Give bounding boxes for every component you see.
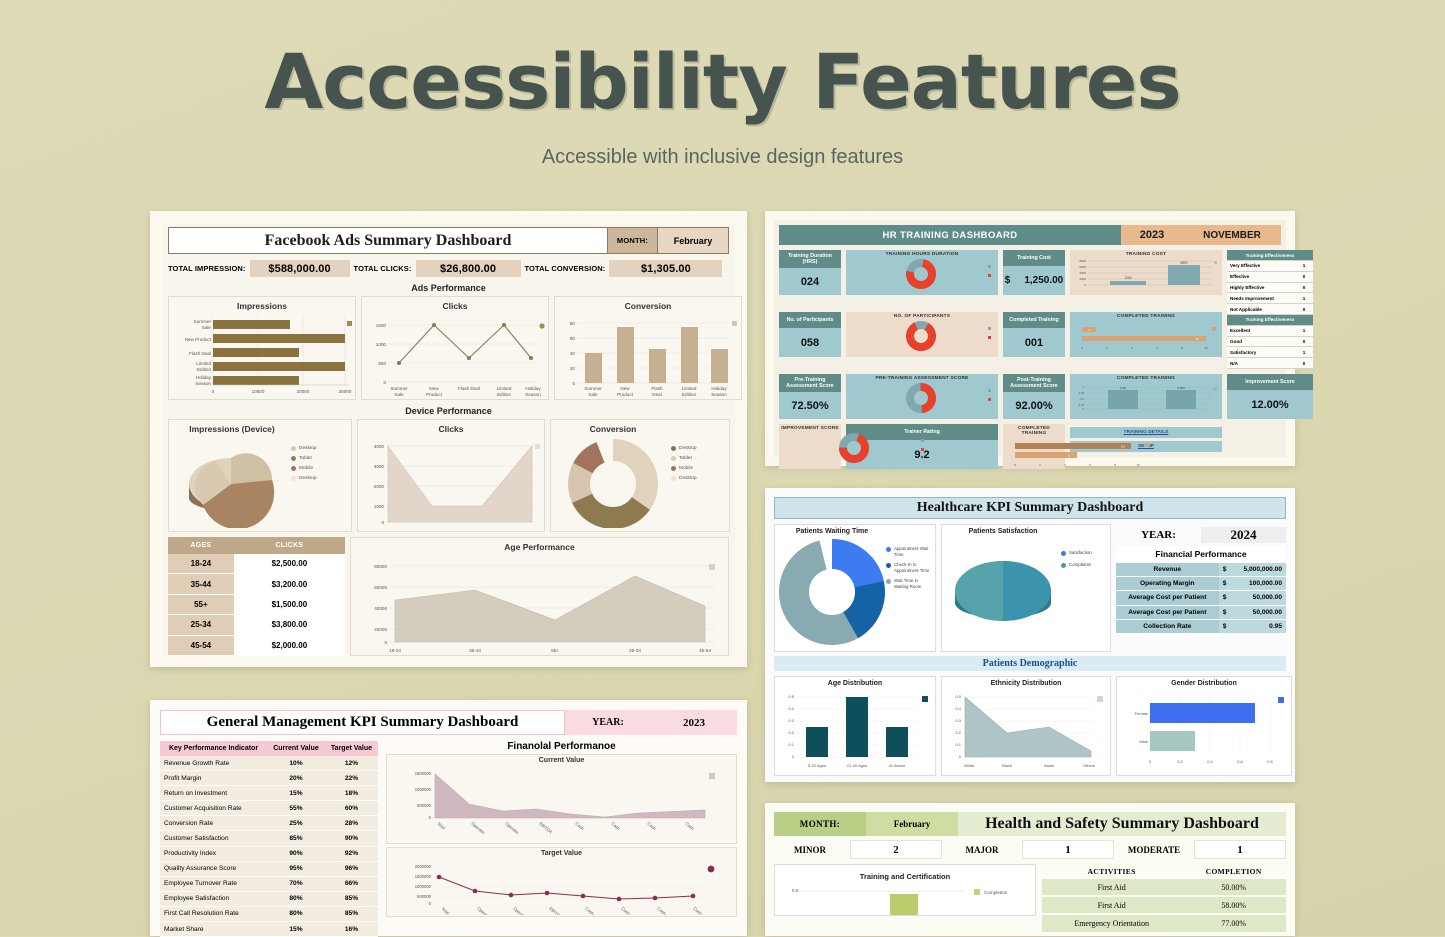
svg-text:EBITDA: EBITDA: [548, 906, 563, 915]
svg-text:0.8: 0.8: [1267, 759, 1273, 764]
gender-distribution-svg: FemaleMale 00.20.4 0.60.8: [1120, 687, 1288, 773]
major-value: 1: [1022, 840, 1114, 859]
chart-patients-satisfaction: Patients Satisfaction Satisfaction Compl…: [941, 524, 1111, 652]
svg-text:1000000: 1000000: [415, 787, 432, 792]
cell-label: Satisfactory: [1227, 347, 1295, 358]
svg-text:Total: Total: [436, 821, 446, 831]
completed-training-bar3-svg: 9.2 5 024 6810: [1005, 436, 1155, 470]
chart-title: COMPLETED TRAINING: [1005, 426, 1063, 436]
chart-pre-training-assessment-score: PRE-TRAINING ASSESSMENT SCORE: [846, 374, 998, 419]
kpi-participants: No. of Participants 058: [779, 312, 841, 357]
svg-text:500000: 500000: [417, 803, 432, 808]
svg-text:4: 4: [1131, 346, 1133, 350]
table-row: First Aid50.00%: [1042, 879, 1286, 896]
kpi-table: Key Performance Indicator Current Value …: [160, 741, 378, 937]
svg-text:60: 60: [570, 336, 576, 341]
col-current: Current Value: [267, 741, 325, 756]
kpi-value: 12.00%: [1227, 390, 1313, 419]
col-kpi: Key Performance Indicator: [160, 741, 267, 756]
kpi-training-duration: Training Duration (HRS) 024: [779, 250, 841, 295]
facebook-title: Facebook Ads Summary Dashboard: [168, 227, 608, 254]
hr-kpi-grid: Training Duration (HRS) 024 TRAINING HOU…: [779, 250, 1281, 469]
svg-text:Sale: Sale: [394, 392, 404, 397]
svg-text:2000: 2000: [1079, 277, 1086, 281]
current-value-area-svg: 15000001000000 5000000 Total Operatin Op…: [389, 766, 721, 842]
chart-conversion-bar: Conversion 8060 40200: [554, 296, 742, 400]
minor-value: 2: [850, 840, 942, 859]
gm-body: Key Performance Indicator Current Value …: [160, 741, 737, 937]
chart-device-conversion-donut: Conversion Desktop Tablet: [550, 419, 730, 532]
gm-header: General Management KPI Summary Dashboard…: [160, 710, 737, 735]
cell-current: 20%: [267, 771, 325, 786]
svg-text:4: 4: [1064, 463, 1066, 467]
legend-label: Tablet: [679, 456, 692, 461]
chart-impressions-bar: Impressions SummerSale New Product Flash: [168, 296, 356, 400]
facebook-month-label: MONTH:: [608, 227, 658, 254]
year-label: YEAR:: [1116, 529, 1201, 541]
total-clicks-value: $26,800.00: [416, 260, 521, 277]
chart-training-cost: TRAINING COST 1250 8500 80006000 4000200…: [1070, 250, 1222, 295]
total-conversion-label: TOTAL CONVERSION:: [525, 264, 606, 273]
chart-title: IMPROVEMENT SCORE: [781, 426, 839, 431]
table-row: Customer Satisfaction85%90%: [160, 831, 378, 846]
svg-text:0.75: 0.75: [1079, 391, 1085, 395]
donut-svg: [848, 257, 998, 291]
svg-text:Season: Season: [525, 392, 541, 397]
legend-label: Mobile: [679, 466, 693, 471]
svg-text:0: 0: [212, 389, 215, 394]
cell-target: 90%: [325, 831, 378, 846]
cell-label: Good: [1227, 336, 1295, 347]
svg-text:Product: Product: [426, 392, 443, 397]
kpi-label: Improvement Score: [1227, 374, 1313, 390]
table-row: Revenue Growth Rate10%12%: [160, 756, 378, 771]
cell-count: 1: [1295, 347, 1313, 358]
chart-title: Ethnicity Distribution: [945, 680, 1107, 687]
svg-text:0.92: 0.92: [1120, 386, 1126, 390]
table-header: Training Effectiveness: [1227, 314, 1313, 325]
legend-swatch-icon: [671, 466, 676, 471]
cell-currency: $: [1219, 563, 1231, 577]
legend-label: Completion: [984, 890, 1008, 895]
svg-text:0.4: 0.4: [788, 706, 794, 711]
legend-swatch-icon: [291, 476, 296, 481]
chart-title: Training and Certification: [778, 872, 1032, 881]
svg-text:5-20 Ages: 5-20 Ages: [808, 763, 826, 768]
year-value[interactable]: 2024: [1201, 527, 1286, 543]
legend-swatch-icon: [291, 446, 296, 451]
cell-age: 45-54: [168, 635, 234, 655]
legend-swatch-icon: [886, 563, 891, 568]
hr-month[interactable]: NOVEMBER: [1183, 225, 1281, 245]
svg-text:0: 0: [1081, 346, 1083, 350]
kpi-completed-training: Completed Training 001: [1003, 312, 1065, 357]
hs-month-label: MONTH:: [774, 812, 866, 836]
svg-text:Edition: Edition: [682, 392, 696, 397]
cell-target: 85%: [325, 906, 378, 921]
svg-text:3000: 3000: [374, 464, 385, 469]
cell-completion: 77.00%: [1181, 914, 1286, 932]
cell-current: 85%: [267, 831, 325, 846]
legend-swatch-icon: [886, 547, 891, 552]
legend-label: Desktop: [679, 476, 697, 481]
cell-current: 80%: [267, 891, 325, 906]
legend-swatch-icon: [671, 446, 676, 451]
svg-text:0: 0: [429, 901, 432, 906]
cell-value: 5,000,000.00: [1231, 563, 1286, 577]
svg-text:0: 0: [1149, 759, 1152, 764]
table-row: 55+$1,500.00: [168, 594, 345, 614]
legend-swatch-icon: [291, 456, 296, 461]
cell-count: 1: [1295, 293, 1313, 304]
device-impressions-pie-svg: [173, 436, 291, 528]
cell-completion: 58.00%: [1181, 896, 1286, 914]
table-row: Average Cost per Patient$50,000.00: [1116, 605, 1286, 619]
age-distribution-svg: 0.50.40.3 0.20.10 5-20 Ages21-40 Ages41 …: [778, 687, 933, 773]
clicks-line-svg: 15001000 5000 SummerSale NewProduct Flas…: [366, 313, 546, 399]
svg-text:45-54: 45-54: [699, 648, 711, 653]
total-impression-label: TOTAL IMPRESSION:: [168, 264, 246, 273]
ethnicity-distribution-svg: 0.50.40.3 0.20.10 WhiteBlack AsianOthers: [945, 687, 1108, 773]
cell-kpi: Customer Acquisition Rate: [160, 801, 267, 816]
svg-text:20000: 20000: [297, 389, 310, 394]
col-target: Target Value: [325, 741, 378, 756]
cell-label: Operating Margin: [1116, 577, 1219, 591]
cell-count: 0: [1295, 271, 1313, 282]
cell-value: 50,000.00: [1231, 591, 1286, 605]
target-value-line-svg: 20000001500000 10000005000000 Total Oper…: [389, 859, 721, 915]
healthcare-demographic-row: Age Distribution 0.50.40.3 0.20.10: [774, 676, 1286, 776]
cell-age: 18-24: [168, 554, 234, 574]
svg-text:0: 0: [1083, 407, 1085, 411]
waiting-legend: Appointment Wait Time Check-In to Appoin…: [886, 528, 932, 648]
legend-label: Desktop: [679, 446, 697, 451]
svg-text:New: New: [429, 386, 439, 391]
svg-text:10: 10: [1204, 346, 1208, 350]
svg-text:Season: Season: [711, 392, 727, 397]
hr-training-dashboard-card: HR TRAINING DASHBOARD 2023 NOVEMBER Trai…: [765, 211, 1295, 466]
kpi-value: 024: [779, 268, 841, 295]
cell-target: 66%: [325, 876, 378, 891]
table-row: Revenue$5,000,000.00: [1116, 563, 1286, 577]
svg-text:Operatin: Operatin: [504, 821, 520, 836]
cell-count: 0: [1295, 304, 1313, 315]
kpi-value: 1,250.00: [1024, 275, 1063, 286]
svg-text:1250: 1250: [1124, 276, 1131, 280]
conversion-bar-svg: 8060 40200 SummerSale NewProduct FlashDe…: [559, 313, 739, 399]
svg-text:55+: 55+: [551, 648, 559, 653]
device-performance-charts: Impressions (Device) Desktop Ta: [168, 419, 729, 532]
kpi-label: Training Cost: [1003, 250, 1065, 266]
svg-text:8000: 8000: [1079, 259, 1086, 263]
svg-text:1500000: 1500000: [415, 771, 432, 776]
cell-current: 80%: [267, 906, 325, 921]
kpi-currency: $: [1005, 275, 1011, 286]
facebook-ads-dashboard-card: Facebook Ads Summary Dashboard MONTH: Fe…: [150, 211, 747, 667]
cell-current: 95%: [267, 861, 325, 876]
svg-text:Cash: Cash: [574, 821, 585, 832]
svg-text:Summer: Summer: [584, 386, 602, 391]
cell-kpi: Revenue Growth Rate: [160, 756, 267, 771]
svg-text:40000: 40000: [374, 606, 387, 611]
cell-kpi: Market Share: [160, 922, 267, 937]
gm-title: General Management KPI Summary Dashboard: [160, 710, 565, 735]
healthcare-title: Healthcare KPI Summary Dashboard: [774, 497, 1286, 519]
cell-target: 28%: [325, 816, 378, 831]
svg-text:35-44: 35-44: [469, 648, 481, 653]
svg-text:0: 0: [572, 381, 575, 386]
hs-month-value[interactable]: February: [866, 812, 958, 836]
table-row: 35-44$3,200.00: [168, 574, 345, 594]
cell-current: 70%: [267, 876, 325, 891]
svg-text:Operatin: Operatin: [476, 906, 492, 915]
chart-patients-waiting-time: Patients Waiting Time Appointment Wait T…: [774, 524, 936, 652]
svg-text:0.925: 0.925: [1177, 386, 1185, 390]
svg-text:25-34: 25-34: [629, 648, 641, 653]
table-row: Customer Acquisition Rate55%60%: [160, 801, 378, 816]
patients-demographic-heading: Patients Demographic: [774, 656, 1286, 671]
cell-label: Needs Improvement: [1227, 293, 1295, 304]
healthcare-year-row: YEAR: 2024: [1116, 524, 1286, 546]
legend-label: Mobile: [299, 466, 313, 471]
svg-text:20000: 20000: [374, 627, 387, 632]
cell-label: Not Applicable: [1227, 304, 1295, 315]
chart-title: Patients Waiting Time: [778, 528, 886, 535]
svg-text:6: 6: [1156, 346, 1158, 350]
kpi-label: Completed Training: [1003, 312, 1065, 328]
facebook-month-value[interactable]: February: [658, 227, 729, 254]
svg-text:1000000: 1000000: [415, 884, 432, 889]
device-conversion-legend: Desktop Tablet Mobile Desktop: [671, 424, 725, 527]
hr-title: HR TRAINING DASHBOARD: [779, 225, 1121, 245]
age-performance-row: AGES CLICKS 18-24$2,500.00 35-44$3,200.0…: [168, 537, 729, 656]
table-row: Market Share15%16%: [160, 922, 378, 937]
svg-text:2: 2: [1106, 346, 1108, 350]
svg-text:Season: Season: [195, 381, 211, 386]
facebook-totals-row: TOTAL IMPRESSION: $588,000.00 TOTAL CLIC…: [168, 260, 729, 277]
svg-text:0: 0: [429, 815, 432, 820]
table-row: Not Applicable0: [1227, 304, 1313, 315]
svg-text:0: 0: [792, 754, 795, 759]
svg-text:EBITDA: EBITDA: [538, 821, 553, 835]
cell-currency: $: [1219, 591, 1231, 605]
chart-device-impressions-pie: Impressions (Device) Desktop Ta: [168, 419, 352, 532]
chart-title: Current Value: [389, 757, 734, 764]
cell-age: 55+: [168, 594, 234, 614]
financial-performance-table: Financial Performance Revenue$5,000,000.…: [1116, 546, 1286, 634]
training-effectiveness-table-1: Training Effectiveness Very Effective1 E…: [1227, 250, 1313, 369]
chart-title: Clicks: [366, 301, 544, 311]
cell-currency: $: [1219, 619, 1231, 633]
chart-completed-training-2: COMPLETED TRAINING 0.92 0.925 10.75 0.50…: [1070, 374, 1222, 419]
table-row: 25-34$3,800.00: [168, 615, 345, 635]
satisfaction-pie-svg: [945, 535, 1061, 647]
completed-training-bar2-svg: 0.92 0.925 10.75 0.50.250: [1072, 381, 1222, 415]
table-row: Return on Investment15%18%: [160, 786, 378, 801]
chart-title: Gender Distribution: [1120, 680, 1288, 687]
svg-text:60000: 60000: [374, 585, 387, 590]
gm-financial-performance: Finanolal Performanoe Current Value 1500…: [386, 741, 737, 937]
financial-performance-heading: Finanolal Performanoe: [386, 741, 737, 754]
cell-current: 15%: [267, 922, 325, 937]
kpi-value: 001: [1003, 328, 1065, 357]
svg-text:Summer: Summer: [390, 386, 408, 391]
svg-text:2: 2: [1039, 463, 1041, 467]
kpi-pre-training-score: Pre-Training Assessment Score 72.50%: [779, 374, 841, 419]
cell-target: 60%: [325, 801, 378, 816]
chart-age-distribution: Age Distribution 0.50.40.3 0.20.10: [774, 676, 936, 776]
cell-label: N/A: [1227, 358, 1295, 369]
cell-age: 35-44: [168, 574, 234, 594]
chart-completed-training-1: COMPLETED TRAINING 1 10 024 6810: [1070, 312, 1222, 357]
svg-text:Limited: Limited: [196, 361, 211, 366]
cell-kpi: Conversion Rate: [160, 816, 267, 831]
chart-training-certification: Training and Certification 0.8 Completio…: [774, 864, 1036, 916]
svg-text:21-40 Ages: 21-40 Ages: [847, 763, 867, 768]
svg-text:0.5: 0.5: [1080, 397, 1084, 401]
cell-kpi: Employee Satisfaction: [160, 891, 267, 906]
hs-body: Training and Certification 0.8 Completio…: [774, 864, 1286, 934]
cell-kpi: First Call Resolution Rate: [160, 906, 267, 921]
table-row: 45-54$2,000.00: [168, 635, 345, 655]
svg-text:0.2: 0.2: [955, 730, 961, 735]
legend-label: Check-In to Appointment Time: [894, 562, 932, 573]
svg-text:0.4: 0.4: [955, 706, 961, 711]
table-row: Excellent1: [1227, 325, 1313, 336]
device-performance-heading: Device Performance: [168, 406, 729, 416]
device-conversion-donut-svg: [555, 436, 671, 528]
svg-text:6000: 6000: [1079, 265, 1086, 269]
table-header-row: Key Performance Indicator Current Value …: [160, 741, 378, 756]
kpi-label: No. of Participants: [779, 312, 841, 328]
svg-text:4000: 4000: [1079, 271, 1086, 275]
col-ages: AGES: [168, 537, 234, 554]
legend-swatch-icon: [671, 476, 676, 481]
svg-text:4000: 4000: [374, 444, 385, 449]
svg-text:0.2: 0.2: [1177, 759, 1183, 764]
svg-text:0: 0: [384, 640, 387, 645]
svg-text:80000: 80000: [374, 564, 387, 569]
cell-currency: $: [1219, 577, 1231, 591]
donut-svg: [848, 319, 998, 353]
table-header-row: AGES CLICKS: [168, 537, 345, 554]
page-subtitle: Accessible with inclusive design feature…: [0, 146, 1445, 169]
satisfaction-legend: Satisfaction Complaints: [1061, 528, 1107, 648]
legend-label: Appointment Wait Time: [894, 546, 932, 557]
legend-label: Desktop: [299, 446, 317, 451]
healthcare-kpi-dashboard-card: Healthcare KPI Summary Dashboard Patient…: [765, 488, 1295, 782]
legend-label: Desktop: [299, 476, 317, 481]
moderate-label: MODERATE: [1118, 845, 1190, 855]
healthcare-top-row: Patients Waiting Time Appointment Wait T…: [774, 524, 1286, 652]
cell-count: 1: [1295, 325, 1313, 336]
table-header-row: ACTIVITIES COMPLETION: [1042, 864, 1286, 879]
col-completion: COMPLETION: [1181, 864, 1286, 879]
health-safety-dashboard-card: MONTH: February Health and Safety Summar…: [765, 803, 1295, 936]
hr-year[interactable]: 2023: [1121, 225, 1183, 245]
kpi-label: Post-Training Assessment Score: [1003, 374, 1065, 392]
cell-label: Highly Effective: [1227, 282, 1295, 293]
table-row: Operating Margin$100,000.00: [1116, 577, 1286, 591]
chart-ethnicity-distribution: Ethnicity Distribution 0.50.40.3 0.20.10…: [941, 676, 1111, 776]
kpi-post-training-score: Post-Training Assessment Score 92.00%: [1003, 374, 1065, 419]
svg-text:0: 0: [1014, 463, 1016, 467]
chart-gender-distribution: Gender Distribution FemaleMale 00.20.4 0…: [1116, 676, 1292, 776]
kpi-label: Pre-Training Assessment Score: [779, 374, 841, 392]
cell-current: 25%: [267, 816, 325, 831]
cell-activity: Emergency Orientation: [1042, 914, 1181, 932]
cell-current: 90%: [267, 846, 325, 861]
hs-header: MONTH: February Health and Safety Summar…: [774, 812, 1286, 836]
svg-text:10: 10: [1195, 337, 1199, 341]
legend-label: Wait Time in Waiting Room: [894, 578, 932, 589]
svg-text:New: New: [620, 386, 630, 391]
chart-title: Impressions (Device): [173, 424, 291, 434]
svg-text:Cash: Cash: [646, 821, 657, 832]
chart-training-hours-duration: TRAINING HOURS DURATION: [846, 250, 998, 295]
svg-text:0.3: 0.3: [788, 718, 794, 723]
cell-activity: First Aid: [1042, 879, 1181, 896]
cell-kpi: Quality Assurance Score: [160, 861, 267, 876]
svg-text:40: 40: [570, 351, 576, 356]
cell-count: 0: [1295, 358, 1313, 369]
cell-clicks: $2,500.00: [234, 554, 345, 574]
table-row: Average Cost per Patient$50,000.00: [1116, 591, 1286, 605]
svg-text:Flash Deal: Flash Deal: [189, 351, 211, 356]
svg-text:10: 10: [1136, 463, 1140, 467]
svg-text:Cash: Cash: [692, 906, 703, 915]
chart-title: Conversion: [555, 424, 671, 434]
chart-device-clicks-area: Clicks 40003000 200010000: [357, 419, 545, 532]
cell-value: 0.95: [1231, 619, 1286, 633]
hs-title: Health and Safety Summary Dashboard: [958, 812, 1286, 836]
table-row: N/A0: [1227, 358, 1313, 369]
completed-training-bar-svg: 1 10 024 6810: [1072, 319, 1222, 353]
svg-text:0.4: 0.4: [1207, 759, 1213, 764]
ads-performance-charts: Impressions SummerSale New Product Flash: [168, 296, 729, 400]
table-row: Satisfactory1: [1227, 347, 1313, 358]
legend-swatch-icon: [291, 466, 296, 471]
svg-text:Summer: Summer: [194, 319, 212, 324]
cell-current: 10%: [267, 756, 325, 771]
cell-current: 55%: [267, 801, 325, 816]
table-row: 18-24$2,500.00: [168, 554, 345, 574]
total-conversion-value: $1,305.00: [609, 260, 722, 277]
gm-year-value[interactable]: 2023: [651, 710, 737, 735]
svg-text:Edition: Edition: [497, 392, 511, 397]
svg-text:0.6: 0.6: [1237, 759, 1243, 764]
svg-text:8500: 8500: [1180, 261, 1187, 265]
cell-target: 22%: [325, 771, 378, 786]
cell-label: Excellent: [1227, 325, 1295, 336]
donut-svg: [848, 381, 998, 415]
cell-label: Average Cost per Patient: [1116, 591, 1219, 605]
table-header: Training Effectiveness: [1227, 250, 1313, 261]
svg-text:Female: Female: [1135, 711, 1149, 716]
chart-title: Conversion: [559, 301, 737, 311]
chart-clicks-line: Clicks 15001000 5000 SummerSale NewPr: [361, 296, 549, 400]
svg-text:Holiday: Holiday: [196, 375, 212, 380]
table-row: Conversion Rate25%28%: [160, 816, 378, 831]
cell-target: 16%: [325, 922, 378, 937]
svg-text:0: 0: [383, 380, 386, 385]
general-management-kpi-card: General Management KPI Summary Dashboard…: [150, 700, 747, 936]
chart-current-value: Current Value 15000001000000 5000000 Tot…: [386, 754, 737, 844]
svg-text:Holiday: Holiday: [525, 386, 541, 391]
svg-text:0.1: 0.1: [788, 742, 794, 747]
svg-text:Total: Total: [440, 906, 450, 915]
page-title: Accessibility Features: [0, 0, 1445, 120]
